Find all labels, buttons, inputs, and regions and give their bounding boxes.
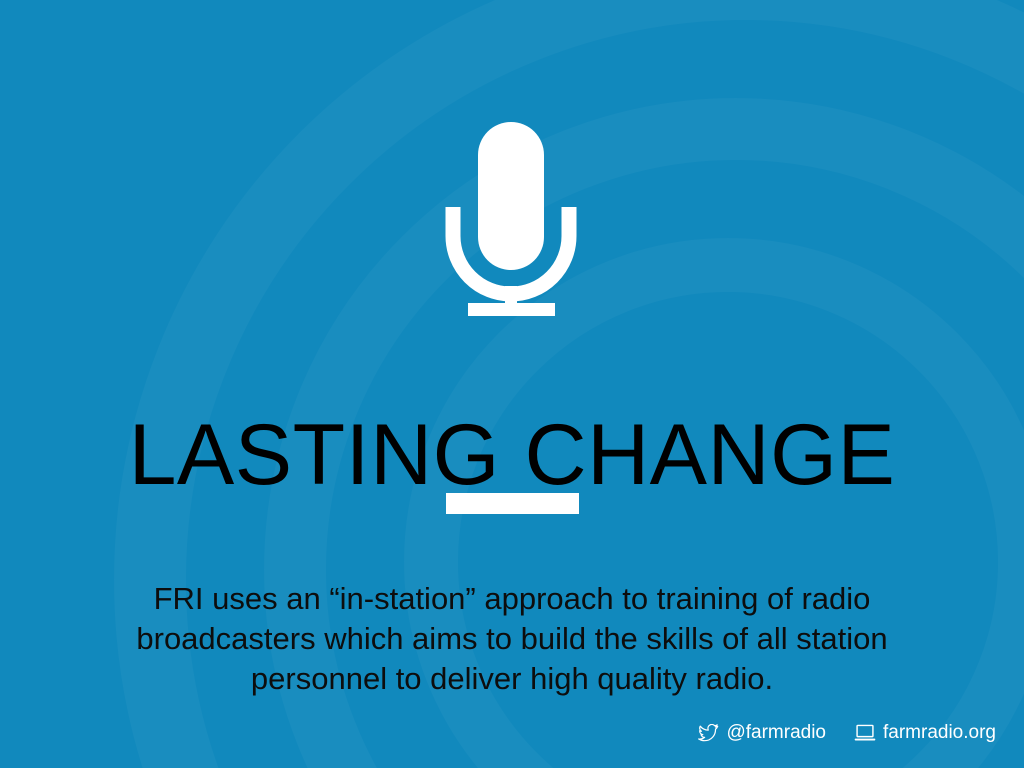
footer-contact-strip: @farmradio farmradio.org: [697, 722, 996, 744]
slide-canvas: LASTING CHANGE FRI uses an “in-station” …: [0, 0, 1024, 768]
footer-website-label: farmradio.org: [883, 722, 996, 744]
footer-twitter-handle[interactable]: @farmradio: [697, 722, 826, 744]
microphone-icon: [445, 118, 585, 320]
slide-title: LASTING CHANGE: [0, 410, 1024, 500]
footer-twitter-label: @farmradio: [726, 722, 826, 744]
slide-body-text: FRI uses an “in-station” approach to tra…: [92, 579, 932, 699]
twitter-bird-icon: [697, 723, 719, 743]
laptop-icon: [854, 723, 876, 743]
footer-website-link[interactable]: farmradio.org: [854, 722, 996, 744]
divider-dash: [446, 493, 579, 514]
